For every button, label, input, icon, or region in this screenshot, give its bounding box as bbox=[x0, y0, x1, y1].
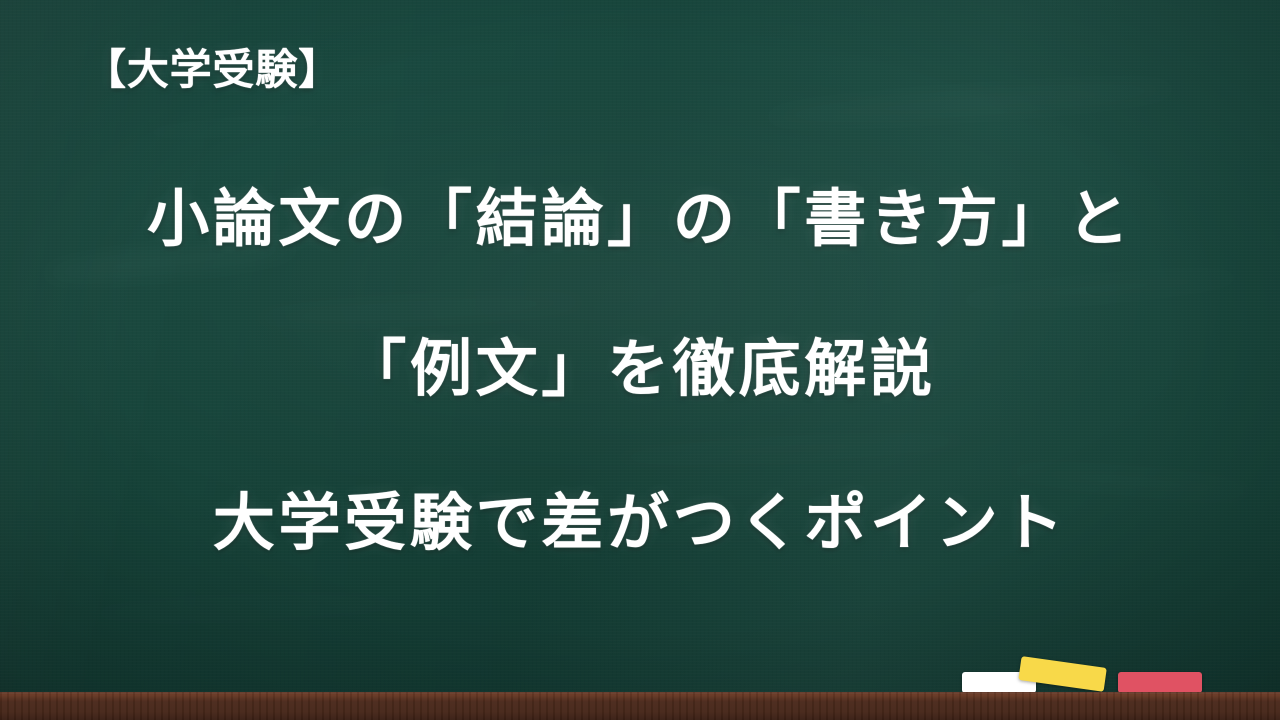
title-line-3: 大学受験で差がつくポイント bbox=[0, 472, 1280, 562]
kicker-label: 【大学受験】 bbox=[84, 36, 341, 97]
title-line-2: 「例文」を徹底解説 bbox=[0, 318, 1280, 408]
thumbnail-slide: 【大学受験】 小論文の「結論」の「書き方」と 「例文」を徹底解説 大学受験で差が… bbox=[0, 0, 1280, 720]
ledge-wood-grain bbox=[0, 692, 1280, 720]
title-line-1: 小論文の「結論」の「書き方」と bbox=[0, 168, 1280, 258]
chalkboard-ledge bbox=[0, 692, 1280, 720]
red-chalk-stick bbox=[1118, 672, 1202, 693]
